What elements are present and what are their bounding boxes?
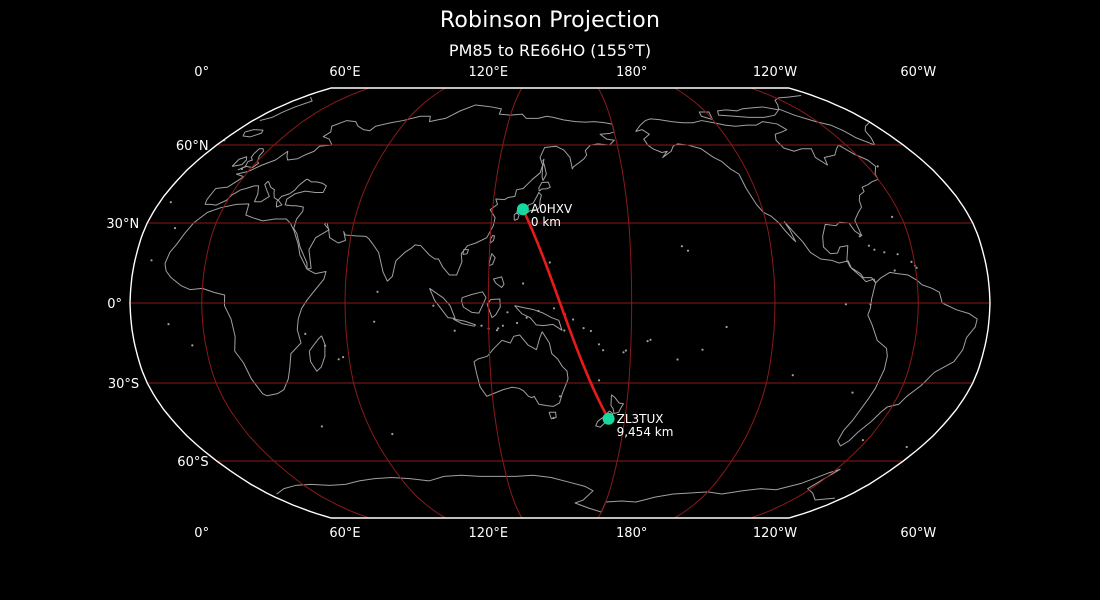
lon-tick-bottom: 60°E [329,526,360,541]
lon-tick-bottom: 120°E [469,526,509,541]
endpoint-distance-label: 0 km [531,215,561,229]
lon-tick-top: 120°W [753,65,797,80]
lon-tick-top: 60°E [329,65,360,80]
lat-tick-left: 30°S [108,377,139,392]
lon-tick-top: 180° [616,65,647,80]
lat-tick-left: 60°N [176,139,209,154]
endpoint-marker[interactable] [603,413,615,425]
lon-tick-bottom: 60°W [900,526,936,541]
lat-tick-left: 0° [107,297,122,312]
endpoint-distance-label: 9,454 km [617,425,674,439]
lon-tick-bottom: 180° [616,526,647,541]
coastline-layer [150,96,977,513]
lat-tick-left: 30°N [106,217,139,232]
endpoint-callsign-label: ZL3TUX [617,412,664,426]
lon-tick-bottom: 120°W [753,526,797,541]
robinson-map[interactable]: A0HXV0 kmZL3TUX9,454 km 0°0°60°E60°E120°… [0,0,1100,600]
lat-tick-left: 60°S [177,455,208,470]
endpoint-callsign-label: A0HXV [531,202,573,216]
map-figure: Robinson Projection PM85 to RE66HO (155°… [0,0,1100,600]
lon-tick-bottom: 0° [194,526,209,541]
lon-tick-top: 60°W [900,65,936,80]
endpoint-marker[interactable] [517,203,529,215]
lon-tick-top: 120°E [469,65,509,80]
endpoint-markers[interactable]: A0HXV0 kmZL3TUX9,454 km [517,202,674,439]
lon-tick-top: 0° [194,65,209,80]
